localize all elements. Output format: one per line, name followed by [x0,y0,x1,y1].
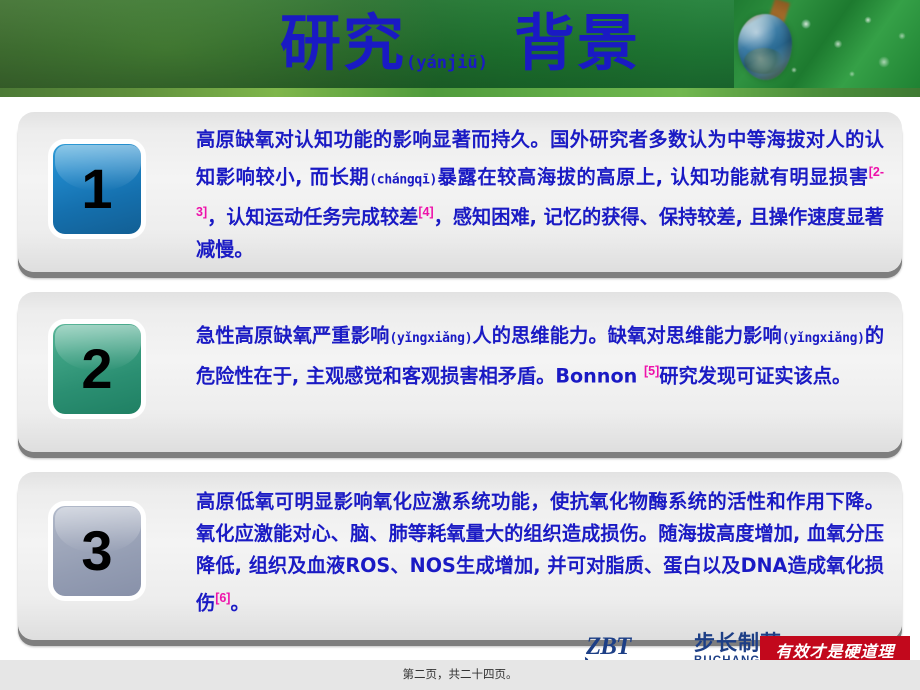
title-pinyin: (yánjiū) [406,53,488,73]
body-text-run: 高原低氧可明显影响氧化应激系统功能，使抗氧化物酶系统的活性和作用下降。氧化应激能… [196,490,884,614]
panel-number-badge-2: 2 [48,319,146,419]
citation-reference: [4] [418,205,433,219]
content-panel-3: 3 高原低氧可明显影响氧化应激系统功能，使抗氧化物酶系统的活性和作用下降。氧化应… [18,472,902,640]
body-text-run: 人的思维能力。缺氧对思维能力影响 [472,324,782,347]
badge-number-label: 2 [81,341,112,397]
body-text-run: 研究发现可证实该点。 [659,364,851,387]
content-panel-2: 2 急性高原缺氧严重影响(yǐngxiǎng)人的思维能力。缺氧对思维能力影响(… [18,292,902,452]
panel-body-text-2: 急性高原缺氧严重影响(yǐngxiǎng)人的思维能力。缺氧对思维能力影响(yǐ… [196,320,884,392]
slide-root: 研究(yánjiū)背景 www.wezixin.com 1 高原缺氧对认知功能… [0,0,920,690]
body-text-run: 。 [230,591,249,614]
badge-number-label: 1 [81,161,112,217]
citation-reference: [5] [644,364,659,378]
citation-reference: [6] [215,591,230,605]
panel-number-badge-1: 1 [48,139,146,239]
title-part-2: 背景 [514,8,640,79]
page-title: 研究(yánjiū)背景 [0,2,920,97]
title-part-1: 研究 [280,8,406,79]
inline-pinyin: (chángqī) [369,172,437,187]
slide-header: 研究(yánjiū)背景 [0,0,920,97]
body-text-run: ，认知运动任务完成较差 [207,206,418,229]
header-bottom-strip [0,88,920,97]
panel-body-text-1: 高原缺氧对认知功能的影响显著而持久。国外研究者多数认为中等海拔对人的认知影响较小… [196,124,884,266]
page-number-label: 第二页，共二十四页。 [0,666,920,682]
inline-pinyin: (yǐngxiǎng) [782,331,865,346]
body-text-run: 暴露在较高海拔的高原上, 认知功能就有明显损害 [437,165,869,188]
inline-pinyin: (yǐngxiǎng) [389,331,472,346]
body-text-run: 急性高原缺氧严重影响 [196,324,389,347]
content-panel-1: 1 高原缺氧对认知功能的影响显著而持久。国外研究者多数认为中等海拔对人的认知影响… [18,112,902,272]
panel-number-badge-3: 3 [48,501,146,601]
company-slogan-banner: 有效才是硬道理 [760,636,910,663]
panel-body-text-3: 高原低氧可明显影响氧化应激系统功能，使抗氧化物酶系统的活性和作用下降。氧化应激能… [196,486,884,619]
badge-number-label: 3 [81,523,112,579]
